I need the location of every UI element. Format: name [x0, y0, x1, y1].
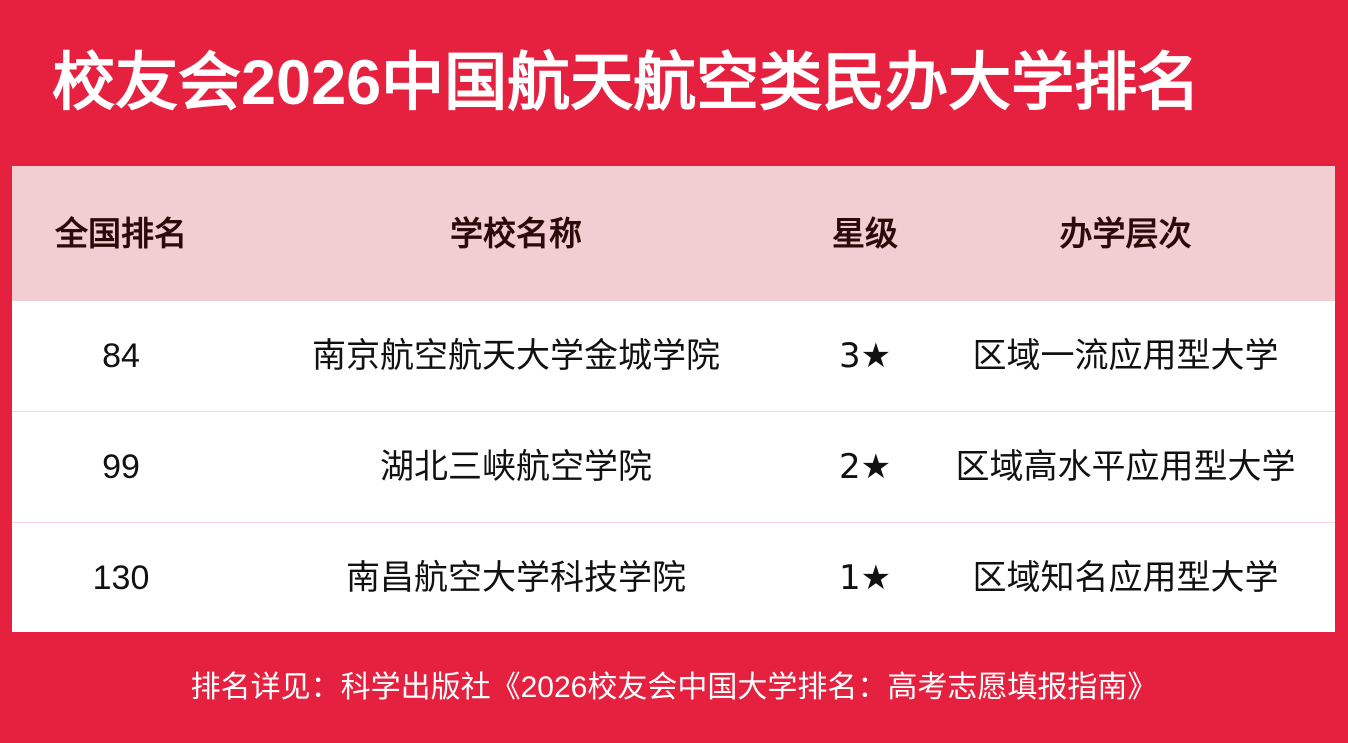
title-banner: 校友会2026中国航天航空类民办大学排名 [0, 0, 1348, 166]
cell-school-level: 区域知名应用型大学 [928, 561, 1323, 595]
cell-rank: 84 [12, 339, 230, 373]
ranking-poster: 校友会2026中国航天航空类民办大学排名 全国排名 学校名称 星级 办学层次 8… [0, 0, 1348, 743]
table-row: 99 湖北三峡航空学院 2★ 区域高水平应用型大学 [12, 412, 1335, 523]
table-row: 130 南昌航空大学科技学院 1★ 区域知名应用型大学 [12, 523, 1335, 633]
cell-school-name: 南昌航空大学科技学院 [230, 561, 802, 595]
cell-star-rating: 3★ [802, 339, 928, 373]
table-row: 84 南京航空航天大学金城学院 3★ 区域一流应用型大学 [12, 301, 1335, 412]
table-header-row: 全国排名 学校名称 星级 办学层次 [12, 166, 1335, 301]
cell-school-level: 区域高水平应用型大学 [928, 450, 1323, 484]
cell-school-name: 湖北三峡航空学院 [230, 450, 802, 484]
footer-note-text: 排名详见：科学出版社《2026校友会中国大学排名：高考志愿填报指南》 [191, 673, 1158, 703]
cell-star-rating: 1★ [802, 561, 928, 595]
cell-school-level: 区域一流应用型大学 [928, 339, 1323, 373]
cell-star-rating: 2★ [802, 450, 928, 484]
footer-note: 排名详见：科学出版社《2026校友会中国大学排名：高考志愿填报指南》 [0, 632, 1348, 743]
column-header-school-name: 学校名称 [230, 217, 802, 250]
cell-rank: 130 [12, 561, 230, 595]
ranking-table: 全国排名 学校名称 星级 办学层次 84 南京航空航天大学金城学院 3★ 区域一… [12, 166, 1335, 632]
cell-rank: 99 [12, 450, 230, 484]
column-header-school-level: 办学层次 [928, 217, 1323, 250]
cell-school-name: 南京航空航天大学金城学院 [230, 339, 802, 373]
page-title: 校友会2026中国航天航空类民办大学排名 [52, 52, 1200, 115]
column-header-star-rating: 星级 [802, 217, 928, 250]
column-header-rank: 全国排名 [12, 217, 230, 250]
